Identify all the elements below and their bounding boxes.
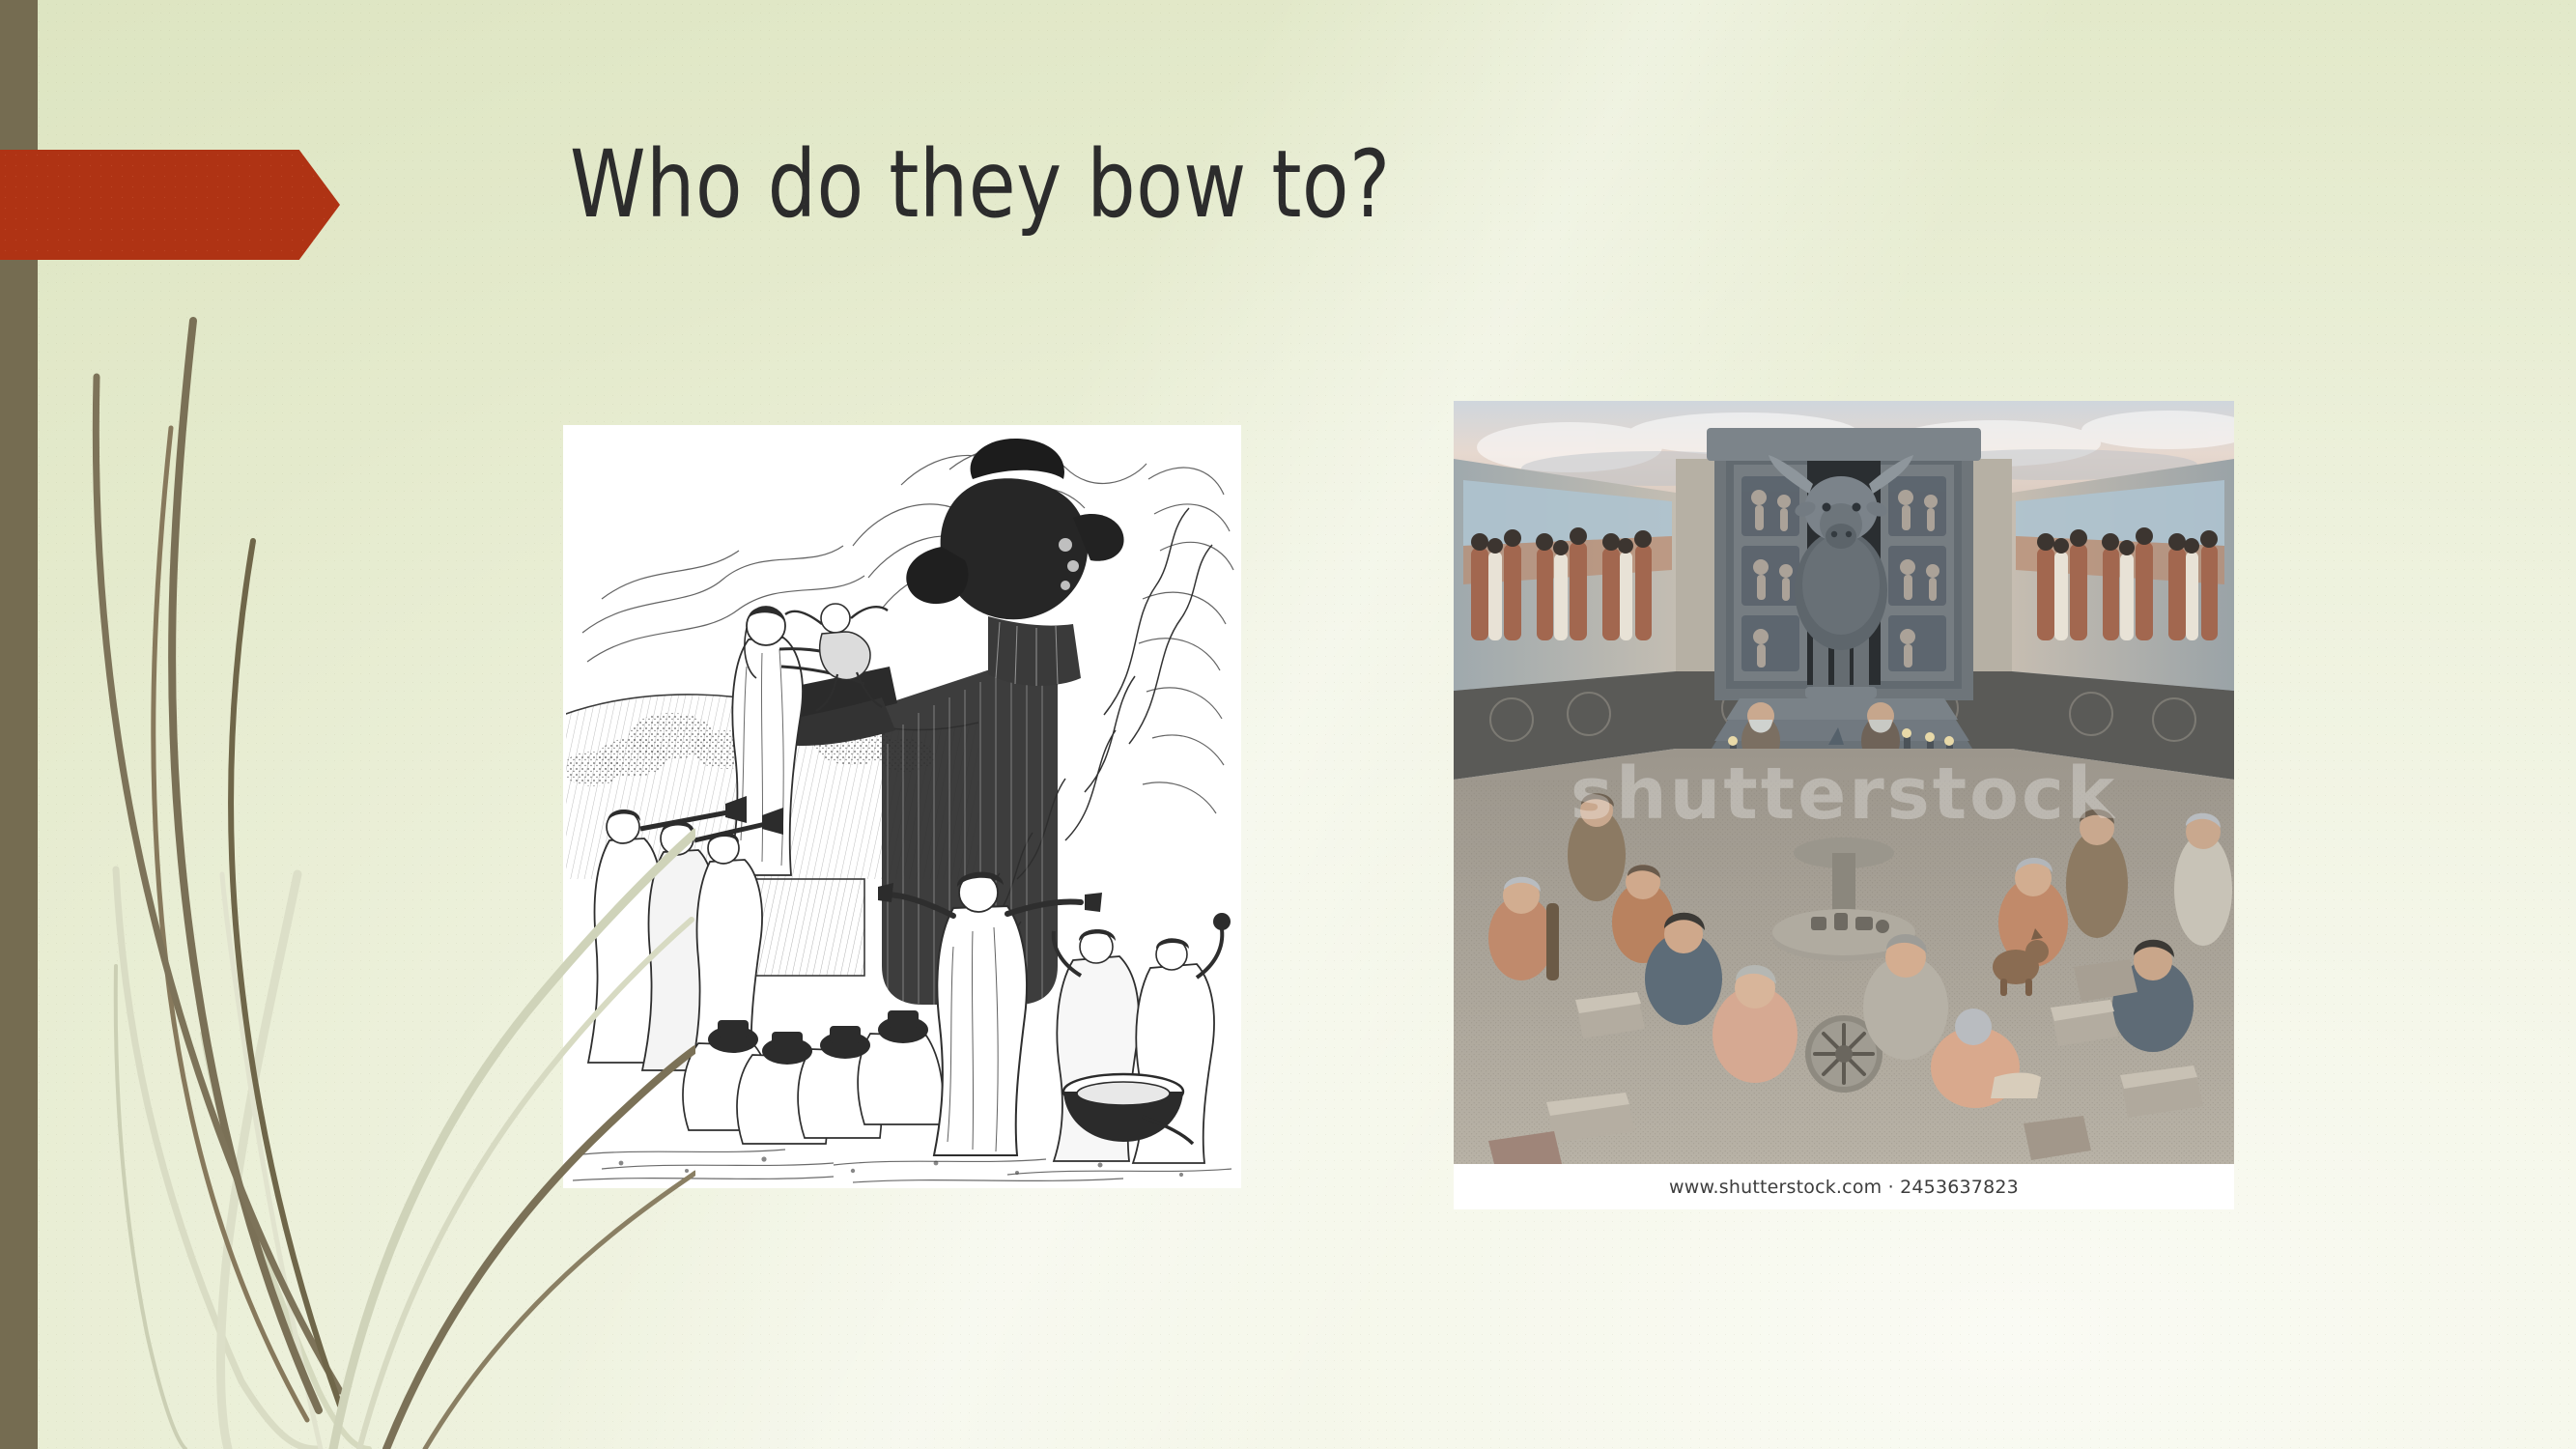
engraving-artwork [563,425,1241,1188]
image-moloch-engraving[interactable] [563,425,1241,1188]
shutterstock-caption: www.shutterstock.com · 2453637823 [1454,1164,2234,1209]
red-arrow-banner [0,150,340,260]
page-title: Who do they bow to? [570,135,1903,236]
temple-artwork: shutterstock [1454,401,2234,1164]
svg-text:shutterstock: shutterstock [1571,753,2117,836]
image-golden-calf-temple[interactable]: shutterstock www.shutterstock.com · 2453… [1454,401,2234,1209]
slide-canvas: Who do they bow to? [0,0,2576,1449]
banner-texture [0,150,340,260]
photo-scene: shutterstock [1454,401,2234,1164]
